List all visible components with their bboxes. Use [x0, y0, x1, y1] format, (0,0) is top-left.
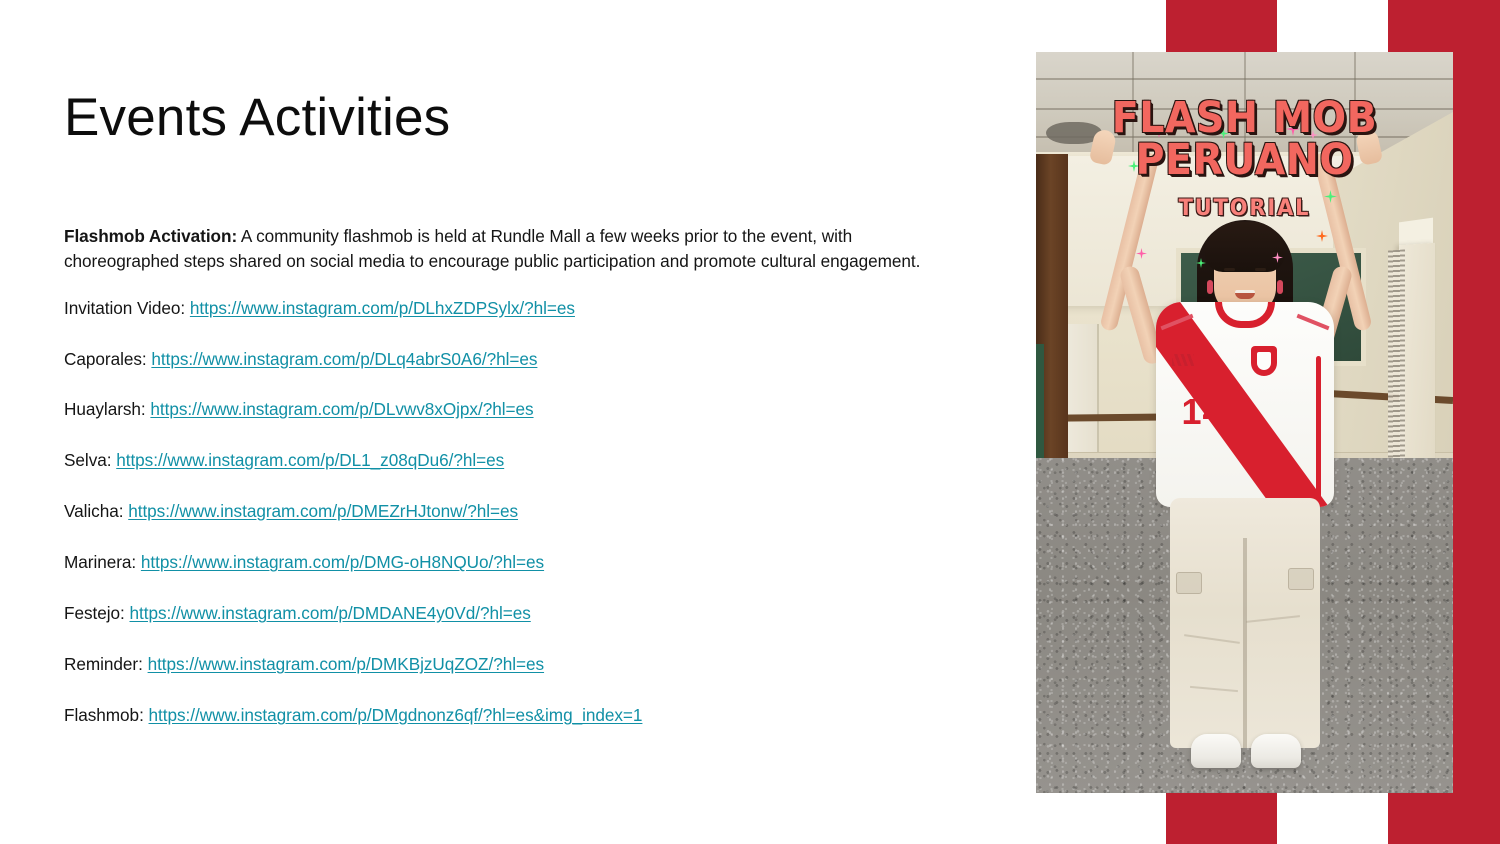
instagram-link-huaylarsh[interactable]: https://www.instagram.com/p/DLvwv8xOjpx/…	[150, 399, 533, 419]
link-line-festejo: Festejo: https://www.instagram.com/p/DMD…	[64, 602, 969, 624]
link-line-invitation-video: Invitation Video: https://www.instagram.…	[64, 297, 969, 319]
flashmob-tutorial-photo: 14	[1036, 52, 1453, 793]
link-label: Marinera:	[64, 552, 136, 572]
link-line-reminder: Reminder: https://www.instagram.com/p/DM…	[64, 653, 969, 675]
left-shoe	[1191, 734, 1241, 768]
jersey-number: 14	[1182, 394, 1224, 430]
link-label: Valicha:	[64, 501, 123, 521]
instagram-link-reminder[interactable]: https://www.instagram.com/p/DMKBjzUqZOZ/…	[148, 654, 544, 674]
jersey-side-stripe	[1316, 356, 1321, 506]
link-label: Selva:	[64, 450, 111, 470]
left-earring	[1207, 280, 1213, 294]
instagram-link-marinera[interactable]: https://www.instagram.com/p/DMG-oH8NQUo/…	[141, 552, 544, 572]
slide-canvas: Events Activities Flashmob Activation: A…	[0, 0, 1500, 844]
hair-front	[1205, 222, 1285, 272]
flashmob-activation-paragraph: Flashmob Activation: A community flashmo…	[64, 224, 969, 275]
dancer-figure: 14	[1036, 52, 1453, 793]
page-title: Events Activities	[64, 88, 450, 149]
right-shoe	[1251, 734, 1301, 768]
left-cargo-pocket	[1176, 572, 1202, 594]
peru-jersey: 14	[1156, 302, 1334, 507]
instagram-link-flashmob[interactable]: https://www.instagram.com/p/DMgdnonz6qf/…	[149, 705, 643, 725]
jersey-brand-logo	[1172, 354, 1194, 366]
instagram-link-selva[interactable]: https://www.instagram.com/p/DL1_z08qDu6/…	[116, 450, 504, 470]
instagram-link-valicha[interactable]: https://www.instagram.com/p/DMEZrHJtonw/…	[128, 501, 518, 521]
link-label: Flashmob:	[64, 705, 144, 725]
left-eye	[1224, 268, 1235, 271]
instagram-link-festejo[interactable]: https://www.instagram.com/p/DMDANE4y0Vd/…	[129, 603, 530, 623]
link-line-valicha: Valicha: https://www.instagram.com/p/DME…	[64, 500, 969, 522]
instagram-link-caporales[interactable]: https://www.instagram.com/p/DLq4abrS0A6/…	[151, 349, 537, 369]
right-sleeve-trim	[1296, 314, 1329, 330]
right-earring	[1277, 280, 1283, 294]
right-eye	[1255, 268, 1266, 271]
paragraph-lead-label: Flashmob Activation:	[64, 226, 237, 246]
link-label: Caporales:	[64, 349, 147, 369]
link-line-flashmob: Flashmob: https://www.instagram.com/p/DM…	[64, 704, 969, 726]
content-body: Flashmob Activation: A community flashmo…	[64, 224, 969, 727]
right-cargo-pocket	[1288, 568, 1314, 590]
link-label: Huaylarsh:	[64, 399, 146, 419]
jersey-crest	[1251, 346, 1277, 376]
link-label: Reminder:	[64, 654, 143, 674]
left-hand	[1089, 128, 1118, 166]
link-line-huaylarsh: Huaylarsh: https://www.instagram.com/p/D…	[64, 398, 969, 420]
link-label: Festejo:	[64, 603, 125, 623]
right-hand	[1355, 128, 1384, 166]
jersey-collar	[1215, 302, 1275, 328]
link-label: Invitation Video:	[64, 298, 185, 318]
link-line-selva: Selva: https://www.instagram.com/p/DL1_z…	[64, 449, 969, 471]
pants-inseam	[1243, 538, 1247, 748]
photo-scene: 14	[1036, 52, 1453, 793]
instagram-link-invitation-video[interactable]: https://www.instagram.com/p/DLhxZDPSylx/…	[190, 298, 575, 318]
link-line-marinera: Marinera: https://www.instagram.com/p/DM…	[64, 551, 969, 573]
cargo-pants	[1170, 498, 1320, 748]
link-line-caporales: Caporales: https://www.instagram.com/p/D…	[64, 348, 969, 370]
mouth	[1235, 290, 1255, 299]
